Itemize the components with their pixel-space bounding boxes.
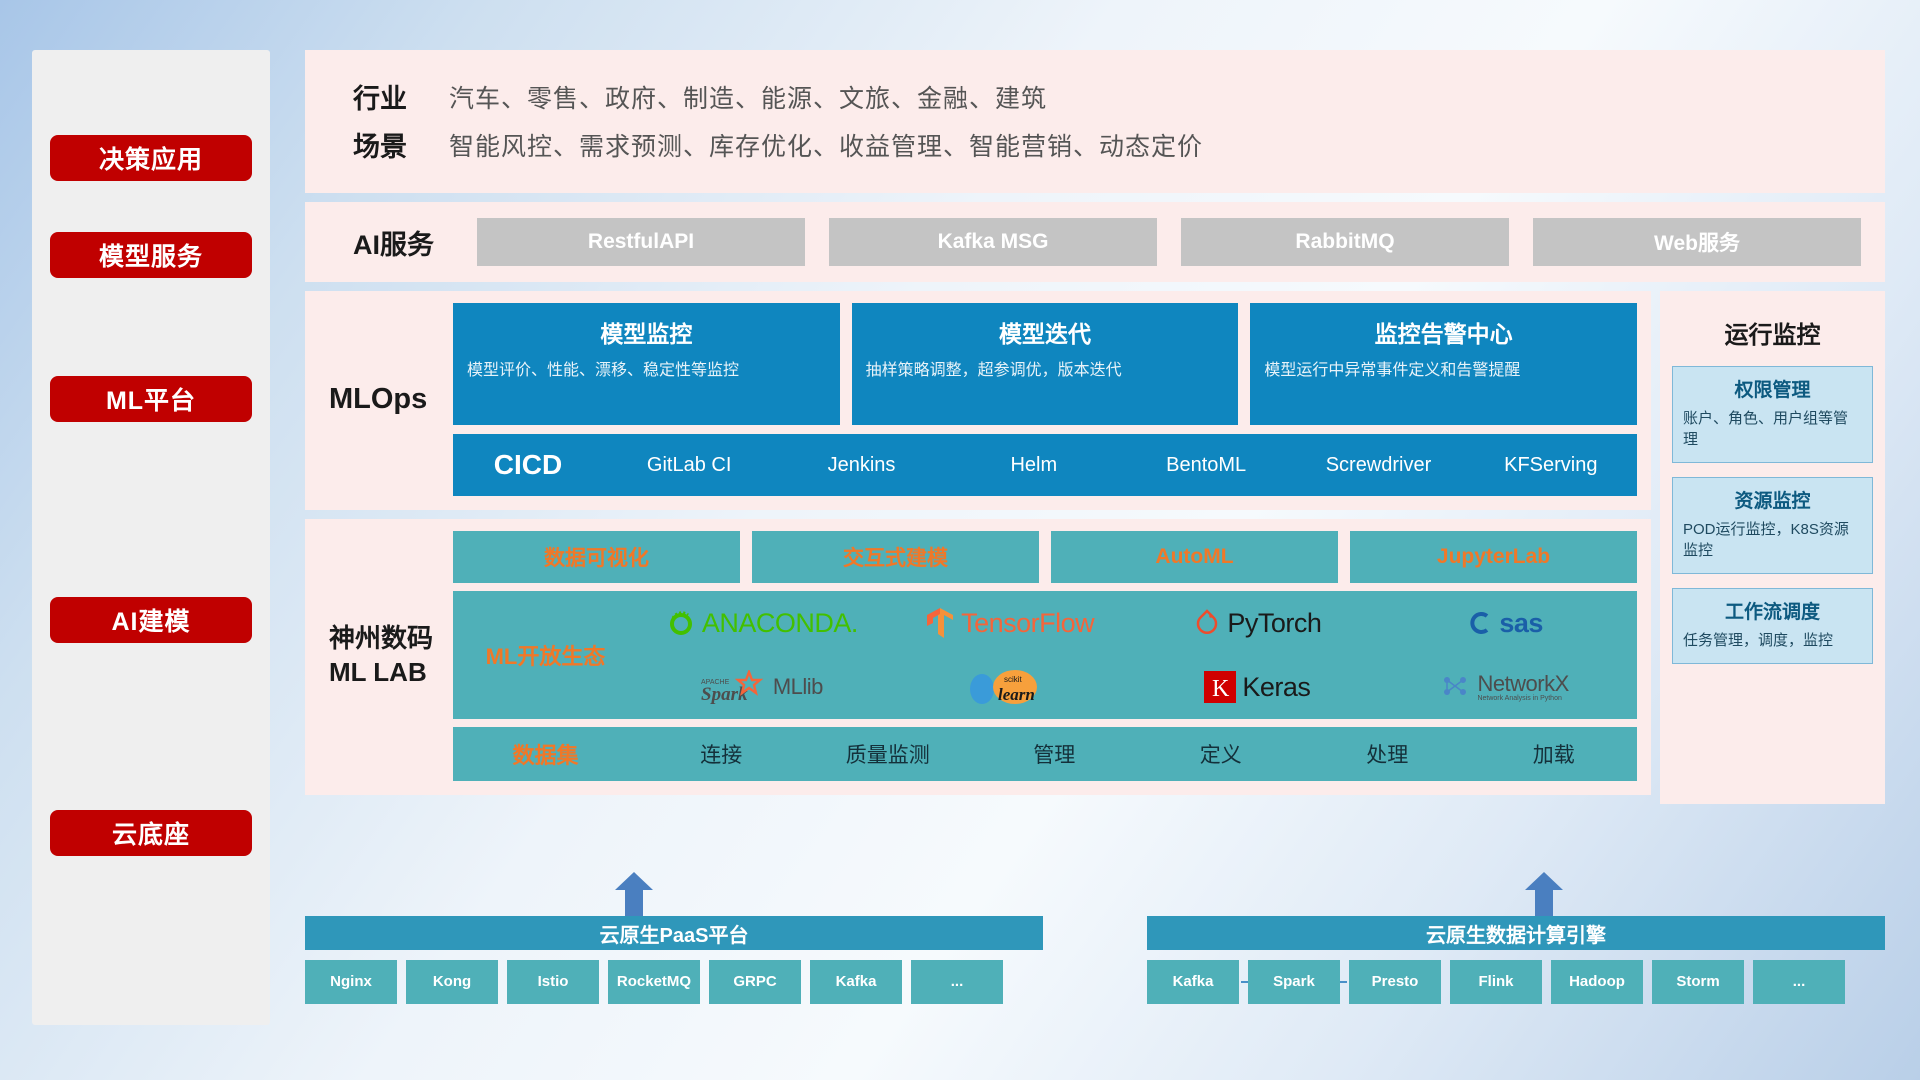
- cloud-chip-presto[interactable]: Presto: [1349, 960, 1441, 1004]
- scenario-value: 智能风控、需求预测、库存优化、收益管理、智能营销、动态定价: [449, 127, 1203, 163]
- scikit-learn-mark-icon: scikit learn: [968, 667, 1052, 707]
- cloud-chip-grpc[interactable]: GRPC: [709, 960, 801, 1004]
- spark-mllib-logo[interactable]: APACHE Spark MLlib: [701, 670, 823, 704]
- sas-logo[interactable]: sas: [1467, 608, 1543, 639]
- anaconda-mark-icon: [666, 608, 696, 638]
- mlops-card-model-iteration[interactable]: 模型迭代 抽样策略调整，超参调优，版本迭代: [852, 303, 1239, 425]
- cicd-item-kfserving[interactable]: KFServing: [1465, 455, 1637, 475]
- tool-data-visualization[interactable]: 数据可视化: [453, 531, 740, 583]
- pytorch-logo-text: PyTorch: [1227, 608, 1321, 639]
- rail-chip-label: AI建模: [111, 602, 190, 638]
- ml-lab-label: 神州数码 ML LAB: [305, 531, 453, 781]
- monitor-card-workflow[interactable]: 工作流调度 任务管理，调度，监控: [1672, 588, 1873, 664]
- cloud-chip-flink[interactable]: Flink: [1450, 960, 1542, 1004]
- cicd-item-helm[interactable]: Helm: [948, 455, 1120, 475]
- dataset-item-quality[interactable]: 质量监测: [805, 739, 972, 769]
- cloud-chip-rocketmq[interactable]: RocketMQ: [608, 960, 700, 1004]
- cicd-item-jenkins[interactable]: Jenkins: [775, 455, 947, 475]
- pytorch-logo[interactable]: PyTorch: [1193, 608, 1321, 639]
- mlops-card-model-monitoring[interactable]: 模型监控 模型评价、性能、漂移、稳定性等监控: [453, 303, 840, 425]
- mlops-card-list: 模型监控 模型评价、性能、漂移、稳定性等监控 模型迭代 抽样策略调整，超参调优，…: [453, 303, 1637, 425]
- ml-ecosystem-row: ML开放生态 ANACONDA.: [453, 591, 1637, 719]
- ai-service-rabbitmq[interactable]: RabbitMQ: [1181, 218, 1509, 266]
- tool-jupyterlab[interactable]: JupyterLab: [1350, 531, 1637, 583]
- card-title: 资源监控: [1683, 486, 1862, 513]
- rail-chip-cloud-base[interactable]: 云底座: [50, 810, 252, 856]
- dataset-item-define[interactable]: 定义: [1138, 739, 1305, 769]
- keras-mark-icon: K: [1204, 671, 1236, 703]
- cloud-paas-items: Nginx Kong Istio RocketMQ GRPC Kafka ...: [305, 960, 1043, 1004]
- rail-chip-ai-modeling[interactable]: AI建模: [50, 597, 252, 643]
- networkx-logo-tagline: Network Analysis in Python: [1477, 695, 1568, 702]
- cloud-compute-block: 云原生数据计算引擎 Kafka Spark Presto Flink Hadoo…: [1147, 916, 1885, 1004]
- rail-chip-model-service[interactable]: 模型服务: [50, 232, 252, 278]
- cloud-chip-paas-more[interactable]: ...: [911, 960, 1003, 1004]
- pytorch-mark-icon: [1193, 608, 1221, 638]
- band-ai-services: AI服务 RestfulAPI Kafka MSG RabbitMQ Web服务: [305, 202, 1885, 282]
- mlops-body: 模型监控 模型评价、性能、漂移、稳定性等监控 模型迭代 抽样策略调整，超参调优，…: [453, 303, 1651, 496]
- arrow-up-paas-icon: [611, 872, 657, 918]
- networkx-logo-text: NetworkX: [1477, 671, 1568, 696]
- card-desc: 抽样策略调整，超参调优，版本迭代: [866, 359, 1225, 382]
- cloud-chip-kafka[interactable]: Kafka: [810, 960, 902, 1004]
- cloud-chip-kong[interactable]: Kong: [406, 960, 498, 1004]
- cicd-item-gitlab-ci[interactable]: GitLab CI: [603, 455, 775, 475]
- cloud-chip-istio[interactable]: Istio: [507, 960, 599, 1004]
- cicd-title: CICD: [453, 449, 603, 481]
- card-desc: POD运行监控，K8S资源监控: [1683, 519, 1862, 561]
- architecture-main: 行业 汽车、零售、政府、制造、能源、文旅、金融、建筑 场景 智能风控、需求预测、…: [305, 50, 1885, 804]
- rail-chip-decision-apps[interactable]: 决策应用: [50, 135, 252, 181]
- ml-tools-row: 数据可视化 交互式建模 AutoML JupyterLab: [453, 531, 1637, 583]
- rail-chip-label: 决策应用: [99, 140, 203, 176]
- mllib-logo-text: MLlib: [773, 674, 823, 700]
- tool-interactive-modeling[interactable]: 交互式建模: [752, 531, 1039, 583]
- cloud-chip-spark[interactable]: Spark: [1248, 960, 1340, 1004]
- monitoring-title: 运行监控: [1672, 315, 1873, 350]
- tool-automl[interactable]: AutoML: [1051, 531, 1338, 583]
- ai-service-kafka-msg[interactable]: Kafka MSG: [829, 218, 1157, 266]
- cloud-chip-hadoop[interactable]: Hadoop: [1551, 960, 1643, 1004]
- ml-lab-body: 数据可视化 交互式建模 AutoML JupyterLab ML开放生态: [453, 531, 1651, 781]
- dataset-row: 数据集 连接 质量监测 管理 定义 处理 加载: [453, 727, 1637, 781]
- tensorflow-mark-icon: [925, 606, 955, 640]
- band-ai-modeling: 神州数码 ML LAB 数据可视化 交互式建模 AutoML JupyterLa…: [305, 519, 1651, 795]
- tensorflow-logo-text: TensorFlow: [961, 608, 1094, 639]
- dataset-item-manage[interactable]: 管理: [971, 739, 1138, 769]
- rail-chip-label: 模型服务: [99, 237, 203, 273]
- cloud-paas-title: 云原生PaaS平台: [305, 916, 1043, 950]
- dataset-item-load[interactable]: 加载: [1471, 739, 1638, 769]
- keras-logo[interactable]: K Keras: [1204, 671, 1310, 703]
- scenario-label: 场景: [329, 125, 449, 164]
- card-title: 工作流调度: [1683, 597, 1862, 624]
- cloud-chip-storm[interactable]: Storm: [1652, 960, 1744, 1004]
- mid-section: MLOps 模型监控 模型评价、性能、漂移、稳定性等监控 模型迭代 抽样策略调整…: [305, 291, 1885, 804]
- card-desc: 账户、角色、用户组等管理: [1683, 408, 1862, 450]
- sas-mark-icon: [1467, 610, 1493, 636]
- spark-mark-icon: APACHE Spark: [701, 670, 767, 704]
- layer-rail: 决策应用 模型服务 ML平台 AI建模 云底座: [32, 50, 270, 1025]
- rail-chip-label: 云底座: [112, 815, 190, 851]
- mid-left-column: MLOps 模型监控 模型评价、性能、漂移、稳定性等监控 模型迭代 抽样策略调整…: [305, 291, 1651, 804]
- svg-text:learn: learn: [998, 685, 1035, 704]
- card-title: 模型迭代: [866, 315, 1225, 349]
- cloud-chip-nginx[interactable]: Nginx: [305, 960, 397, 1004]
- industry-value: 汽车、零售、政府、制造、能源、文旅、金融、建筑: [449, 79, 1047, 115]
- mlops-label: MLOps: [305, 303, 453, 496]
- card-title: 权限管理: [1683, 375, 1862, 402]
- ai-service-web[interactable]: Web服务: [1533, 218, 1861, 266]
- monitor-card-resource[interactable]: 资源监控 POD运行监控，K8S资源监控: [1672, 477, 1873, 574]
- band-decision-apps: 行业 汽车、零售、政府、制造、能源、文旅、金融、建筑 场景 智能风控、需求预测、…: [305, 50, 1885, 193]
- ml-lab-label-line1: 神州数码: [329, 622, 433, 656]
- cicd-item-screwdriver[interactable]: Screwdriver: [1292, 455, 1464, 475]
- cicd-bar: CICD GitLab CI Jenkins Helm BentoML Scre…: [453, 434, 1637, 496]
- dataset-item-connect[interactable]: 连接: [638, 739, 805, 769]
- cicd-item-bentoml[interactable]: BentoML: [1120, 455, 1292, 475]
- rail-chip-ml-platform[interactable]: ML平台: [50, 376, 252, 422]
- monitor-card-permission[interactable]: 权限管理 账户、角色、用户组等管理: [1672, 366, 1873, 463]
- cloud-paas-block: 云原生PaaS平台 Nginx Kong Istio RocketMQ GRPC…: [305, 916, 1043, 1004]
- dataset-item-process[interactable]: 处理: [1304, 739, 1471, 769]
- mlops-card-alert-center[interactable]: 监控告警中心 模型运行中异常事件定义和告警提醒: [1250, 303, 1637, 425]
- industry-label: 行业: [329, 77, 449, 116]
- tensorflow-logo[interactable]: TensorFlow: [925, 606, 1094, 640]
- band-mlops: MLOps 模型监控 模型评价、性能、漂移、稳定性等监控 模型迭代 抽样策略调整…: [305, 291, 1651, 510]
- ai-services-label: AI服务: [329, 223, 477, 262]
- arrow-up-compute-icon: [1521, 872, 1567, 918]
- anaconda-logo-text: ANACONDA.: [702, 608, 858, 639]
- card-title: 模型监控: [467, 315, 826, 349]
- anaconda-logo[interactable]: ANACONDA.: [666, 608, 858, 639]
- monitoring-column: 运行监控 权限管理 账户、角色、用户组等管理 资源监控 POD运行监控，K8S资…: [1660, 291, 1885, 804]
- card-desc: 模型评价、性能、漂移、稳定性等监控: [467, 359, 826, 382]
- dataset-label: 数据集: [453, 738, 638, 770]
- cloud-compute-items: Kafka Spark Presto Flink Hadoop Storm ..…: [1147, 960, 1885, 1004]
- cloud-chip-compute-more[interactable]: ...: [1753, 960, 1845, 1004]
- keras-logo-text: Keras: [1242, 672, 1310, 703]
- rail-chip-label: ML平台: [106, 381, 196, 417]
- networkx-logo[interactable]: NetworkX Network Analysis in Python: [1441, 672, 1568, 702]
- ml-ecosystem-logos: ANACONDA. TensorFlow: [638, 591, 1637, 719]
- card-desc: 任务管理，调度，监控: [1683, 630, 1862, 651]
- scikit-learn-logo[interactable]: scikit learn: [968, 667, 1052, 707]
- card-desc: 模型运行中异常事件定义和告警提醒: [1264, 359, 1623, 382]
- ai-service-restfulapi[interactable]: RestfulAPI: [477, 218, 805, 266]
- scenario-row: 场景 智能风控、需求预测、库存优化、收益管理、智能营销、动态定价: [329, 125, 1861, 164]
- svg-text:K: K: [1212, 676, 1230, 702]
- industry-row: 行业 汽车、零售、政府、制造、能源、文旅、金融、建筑: [329, 77, 1861, 116]
- ml-lab-label-line2: ML LAB: [329, 656, 433, 690]
- card-title: 监控告警中心: [1264, 315, 1623, 349]
- networkx-mark-icon: [1441, 672, 1471, 702]
- svg-text:scikit: scikit: [1004, 675, 1023, 684]
- cloud-base-section: 云原生PaaS平台 Nginx Kong Istio RocketMQ GRPC…: [305, 888, 1885, 1028]
- cloud-chip-kafka2[interactable]: Kafka: [1147, 960, 1239, 1004]
- ai-services-list: RestfulAPI Kafka MSG RabbitMQ Web服务: [477, 218, 1861, 266]
- ml-ecosystem-label: ML开放生态: [453, 639, 638, 671]
- cloud-compute-title: 云原生数据计算引擎: [1147, 916, 1885, 950]
- sas-logo-text: sas: [1499, 608, 1543, 639]
